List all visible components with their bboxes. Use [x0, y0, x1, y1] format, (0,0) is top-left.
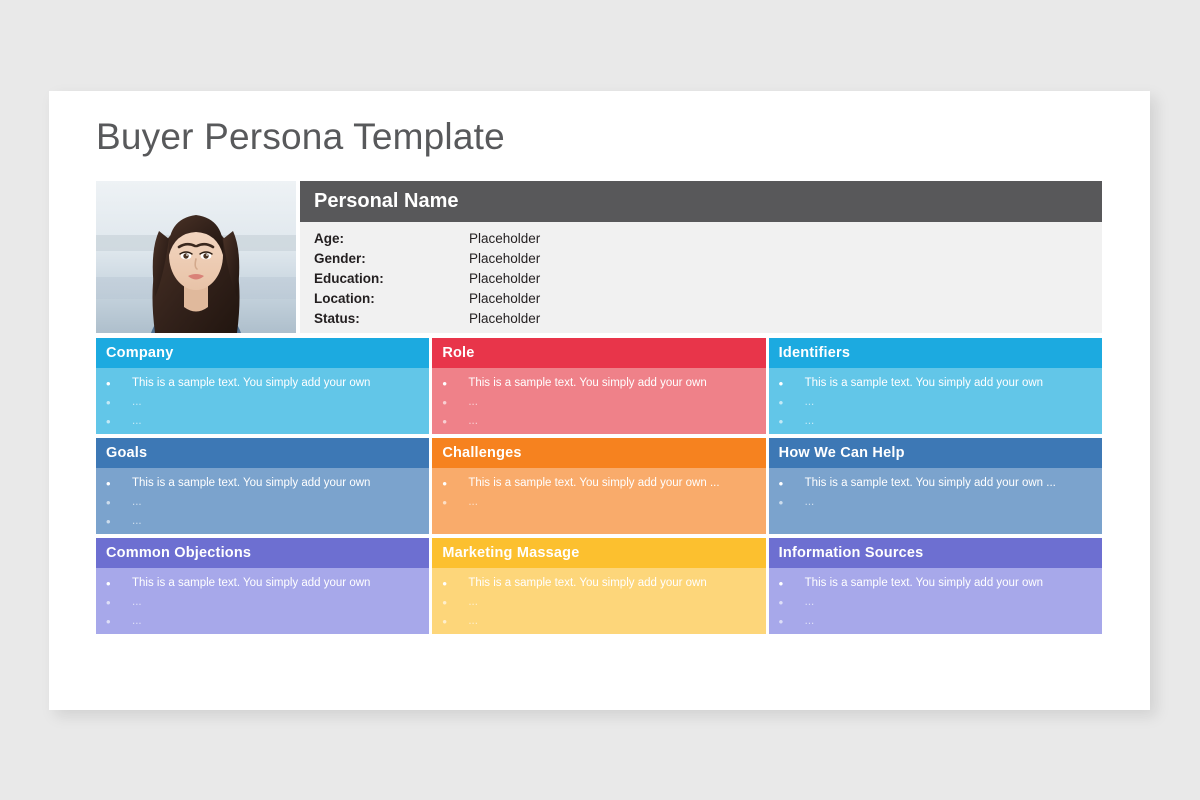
persona-field-row: Education:Placeholder: [314, 271, 1102, 291]
bullet-dot-icon: •: [777, 614, 805, 629]
bullet-dot-icon: •: [104, 376, 132, 391]
persona-card-bullet-text[interactable]: ...: [805, 414, 815, 429]
bullet-dot-icon: •: [104, 476, 132, 491]
bullet-dot-icon: •: [440, 495, 468, 510]
persona-card-title: Company: [106, 345, 173, 361]
persona-field-value[interactable]: Placeholder: [469, 231, 540, 246]
persona-card-body: •This is a sample text. You simply add y…: [96, 468, 429, 534]
persona-card-bullet-text[interactable]: ...: [468, 595, 478, 610]
persona-field-label: Status:: [314, 311, 469, 326]
bullet-dot-icon: •: [440, 395, 468, 410]
bullet-dot-icon: •: [777, 395, 805, 410]
bullet-dot-icon: •: [440, 614, 468, 629]
bullet-dot-icon: •: [777, 495, 805, 510]
persona-card-title: Marketing Massage: [442, 545, 579, 561]
bullet-dot-icon: •: [777, 414, 805, 429]
persona-card-bullet[interactable]: •...: [104, 395, 421, 414]
persona-card-title: Identifiers: [779, 345, 851, 361]
persona-fields-list: Age:PlaceholderGender:PlaceholderEducati…: [300, 222, 1102, 331]
persona-card-bullet-text[interactable]: ...: [468, 495, 478, 510]
persona-card-bullet[interactable]: •This is a sample text. You simply add y…: [440, 476, 757, 495]
persona-card[interactable]: Common Objections•This is a sample text.…: [96, 538, 429, 634]
bullet-dot-icon: •: [104, 514, 132, 529]
persona-field-label: Gender:: [314, 251, 469, 266]
persona-card-bullet-text[interactable]: ...: [132, 414, 142, 429]
persona-card-bullet-text[interactable]: ...: [468, 614, 478, 629]
portrait-illustration: [96, 181, 296, 333]
persona-field-row: Gender:Placeholder: [314, 251, 1102, 271]
persona-card-body: •This is a sample text. You simply add y…: [432, 568, 765, 634]
persona-card-header: Challenges: [432, 438, 765, 468]
persona-card[interactable]: Identifiers•This is a sample text. You s…: [769, 338, 1102, 434]
persona-card-bullet[interactable]: •This is a sample text. You simply add y…: [104, 576, 421, 595]
persona-card-title: How We Can Help: [779, 445, 905, 461]
bullet-dot-icon: •: [104, 395, 132, 410]
bullet-dot-icon: •: [104, 576, 132, 591]
persona-card-bullet[interactable]: •...: [104, 614, 421, 633]
persona-card-bullet-text[interactable]: ...: [805, 395, 815, 410]
persona-card-title: Common Objections: [106, 545, 251, 561]
persona-card-bullet[interactable]: •...: [777, 395, 1094, 414]
persona-field-label: Education:: [314, 271, 469, 286]
persona-card-bullet-text[interactable]: This is a sample text. You simply add yo…: [805, 476, 1056, 491]
persona-card-bullet-text[interactable]: ...: [805, 495, 815, 510]
persona-card-title: Challenges: [442, 445, 521, 461]
persona-card[interactable]: Marketing Massage•This is a sample text.…: [432, 538, 765, 634]
persona-card-bullet-text[interactable]: ...: [468, 395, 478, 410]
persona-card-bullet[interactable]: •This is a sample text. You simply add y…: [440, 576, 757, 595]
persona-field-value[interactable]: Placeholder: [469, 251, 540, 266]
bullet-dot-icon: •: [777, 476, 805, 491]
persona-card-bullet[interactable]: •...: [104, 595, 421, 614]
persona-card[interactable]: Role•This is a sample text. You simply a…: [432, 338, 765, 434]
persona-card-bullet[interactable]: •This is a sample text. You simply add y…: [104, 376, 421, 395]
bullet-dot-icon: •: [440, 414, 468, 429]
persona-card-bullet[interactable]: •...: [440, 414, 757, 433]
persona-card-bullet-text[interactable]: This is a sample text. You simply add yo…: [132, 576, 370, 591]
persona-field-label: Location:: [314, 291, 469, 306]
persona-card[interactable]: Challenges•This is a sample text. You si…: [432, 438, 765, 534]
persona-card-bullet[interactable]: •...: [440, 595, 757, 614]
persona-field-value[interactable]: Placeholder: [469, 291, 540, 306]
bullet-dot-icon: •: [104, 414, 132, 429]
persona-card-bullet-text[interactable]: ...: [468, 414, 478, 429]
slide-canvas: Buyer Persona Template: [49, 91, 1150, 710]
persona-card-row: Goals•This is a sample text. You simply …: [96, 438, 1102, 534]
bullet-dot-icon: •: [440, 376, 468, 391]
persona-card-header: Identifiers: [769, 338, 1102, 368]
bullet-dot-icon: •: [440, 476, 468, 491]
persona-field-row: Status:Placeholder: [314, 311, 1102, 331]
page-title: Buyer Persona Template: [96, 116, 505, 158]
persona-card-bullet[interactable]: •This is a sample text. You simply add y…: [777, 476, 1094, 495]
persona-card-bullet-text[interactable]: This is a sample text. You simply add yo…: [805, 576, 1043, 591]
persona-card-bullet-text[interactable]: This is a sample text. You simply add yo…: [468, 476, 719, 491]
persona-field-label: Age:: [314, 231, 469, 246]
persona-card-title: Goals: [106, 445, 147, 461]
persona-card-header: Common Objections: [96, 538, 429, 568]
persona-card-body: •This is a sample text. You simply add y…: [769, 568, 1102, 634]
bullet-dot-icon: •: [777, 595, 805, 610]
bullet-dot-icon: •: [440, 576, 468, 591]
persona-card-bullet[interactable]: •This is a sample text. You simply add y…: [777, 576, 1094, 595]
persona-card-row: Company•This is a sample text. You simpl…: [96, 338, 1102, 434]
persona-name-bar: Personal Name: [300, 181, 1102, 222]
persona-card-header: Marketing Massage: [432, 538, 765, 568]
persona-card-body: •This is a sample text. You simply add y…: [769, 368, 1102, 434]
persona-field-row: Age:Placeholder: [314, 231, 1102, 251]
persona-card-bullet[interactable]: •...: [777, 595, 1094, 614]
persona-card-bullet[interactable]: •...: [777, 614, 1094, 633]
persona-card-header: Information Sources: [769, 538, 1102, 568]
persona-card-bullet-text[interactable]: ...: [805, 595, 815, 610]
persona-card-bullet[interactable]: •This is a sample text. You simply add y…: [777, 376, 1094, 395]
persona-profile-strip: Personal Name Age:PlaceholderGender:Plac…: [96, 181, 1102, 333]
persona-card-header: How We Can Help: [769, 438, 1102, 468]
persona-card-bullet[interactable]: •...: [104, 414, 421, 433]
persona-card-title: Information Sources: [779, 545, 924, 561]
persona-card-bullet[interactable]: •This is a sample text. You simply add y…: [440, 376, 757, 395]
persona-card-header: Company: [96, 338, 429, 368]
persona-card-bullet-text[interactable]: This is a sample text. You simply add yo…: [132, 476, 370, 491]
persona-portrait-photo: [96, 181, 296, 333]
bullet-dot-icon: •: [104, 495, 132, 510]
persona-card-bullet-text[interactable]: ...: [132, 495, 142, 510]
persona-card[interactable]: Information Sources•This is a sample tex…: [769, 538, 1102, 634]
persona-card-bullet[interactable]: •...: [440, 614, 757, 633]
persona-card-body: •This is a sample text. You simply add y…: [96, 568, 429, 634]
persona-card-bullet[interactable]: •This is a sample text. You simply add y…: [104, 476, 421, 495]
persona-card-bullet-text[interactable]: ...: [132, 514, 142, 529]
persona-info-panel: Personal Name Age:PlaceholderGender:Plac…: [300, 181, 1102, 333]
persona-card-bullet-text[interactable]: ...: [805, 614, 815, 629]
persona-field-value[interactable]: Placeholder: [469, 311, 540, 326]
persona-card-bullet[interactable]: •...: [440, 395, 757, 414]
persona-card-header: Goals: [96, 438, 429, 468]
persona-card-bullet[interactable]: •...: [440, 495, 757, 514]
persona-card-bullet[interactable]: •...: [104, 514, 421, 533]
persona-card-bullet-text[interactable]: This is a sample text. You simply add yo…: [468, 376, 706, 391]
persona-card-title: Role: [442, 345, 474, 361]
persona-card-bullet[interactable]: •...: [777, 495, 1094, 514]
persona-card-body: •This is a sample text. You simply add y…: [769, 468, 1102, 534]
persona-card-bullet-text[interactable]: ...: [132, 395, 142, 410]
persona-card[interactable]: Goals•This is a sample text. You simply …: [96, 438, 429, 534]
bullet-dot-icon: •: [777, 376, 805, 391]
bullet-dot-icon: •: [777, 576, 805, 591]
bullet-dot-icon: •: [104, 614, 132, 629]
persona-card-bullet-text[interactable]: This is a sample text. You simply add yo…: [132, 376, 370, 391]
bullet-dot-icon: •: [440, 595, 468, 610]
persona-card-bullet-text[interactable]: ...: [132, 614, 142, 629]
persona-card-bullet[interactable]: •...: [104, 495, 421, 514]
persona-card-bullet-text[interactable]: ...: [132, 595, 142, 610]
persona-card-body: •This is a sample text. You simply add y…: [96, 368, 429, 434]
persona-card-bullet-text[interactable]: This is a sample text. You simply add yo…: [805, 376, 1043, 391]
persona-card-header: Role: [432, 338, 765, 368]
persona-card-body: •This is a sample text. You simply add y…: [432, 368, 765, 434]
persona-card[interactable]: How We Can Help•This is a sample text. Y…: [769, 438, 1102, 534]
persona-field-value[interactable]: Placeholder: [469, 271, 540, 286]
persona-card[interactable]: Company•This is a sample text. You simpl…: [96, 338, 429, 434]
persona-card-bullet[interactable]: •...: [777, 414, 1094, 433]
persona-card-grid: Company•This is a sample text. You simpl…: [96, 338, 1102, 638]
persona-card-bullet-text[interactable]: This is a sample text. You simply add yo…: [468, 576, 706, 591]
persona-name-label: Personal Name: [314, 190, 459, 213]
bullet-dot-icon: •: [104, 595, 132, 610]
persona-field-row: Location:Placeholder: [314, 291, 1102, 311]
persona-card-row: Common Objections•This is a sample text.…: [96, 538, 1102, 634]
persona-card-body: •This is a sample text. You simply add y…: [432, 468, 765, 534]
